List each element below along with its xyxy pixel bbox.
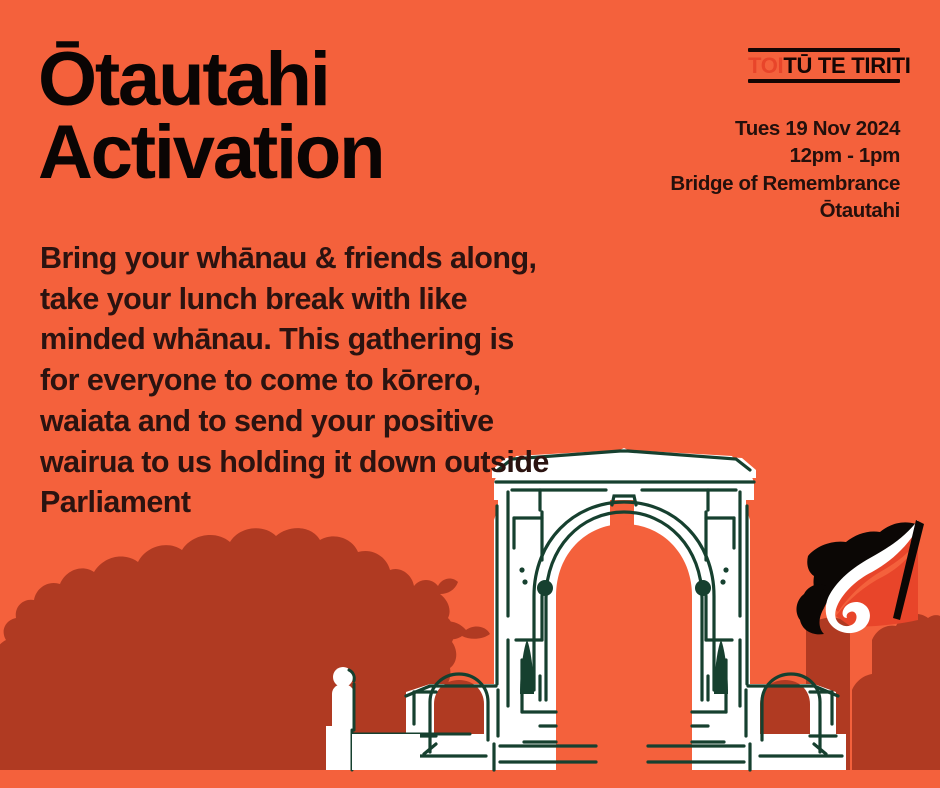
event-time: 12pm - 1pm <box>670 142 900 169</box>
logo-bar-top <box>748 48 900 52</box>
page-title: Ōtautahi Activation <box>38 44 383 190</box>
toitu-te-tiriti-logo: TOITŪ TE TIRITI <box>748 48 900 83</box>
event-date: Tues 19 Nov 2024 <box>670 115 900 142</box>
event-venue: Bridge of Remembrance <box>670 170 900 197</box>
logo-wordmark: TOITŪ TE TIRITI <box>748 54 900 77</box>
body-copy: Bring your whānau & friends along, take … <box>40 238 560 523</box>
event-city: Ōtautahi <box>670 197 900 224</box>
poster-canvas: Ōtautahi Activation TOITŪ TE TIRITI Tues… <box>0 0 940 788</box>
event-details: Tues 19 Nov 2024 12pm - 1pm Bridge of Re… <box>670 115 900 224</box>
logo-accent-word: TOI <box>748 53 783 78</box>
poster-content: Ōtautahi Activation TOITŪ TE TIRITI Tues… <box>0 0 940 788</box>
logo-rest-word: TŪ TE TIRITI <box>783 53 910 78</box>
logo-bar-bottom <box>748 79 900 83</box>
